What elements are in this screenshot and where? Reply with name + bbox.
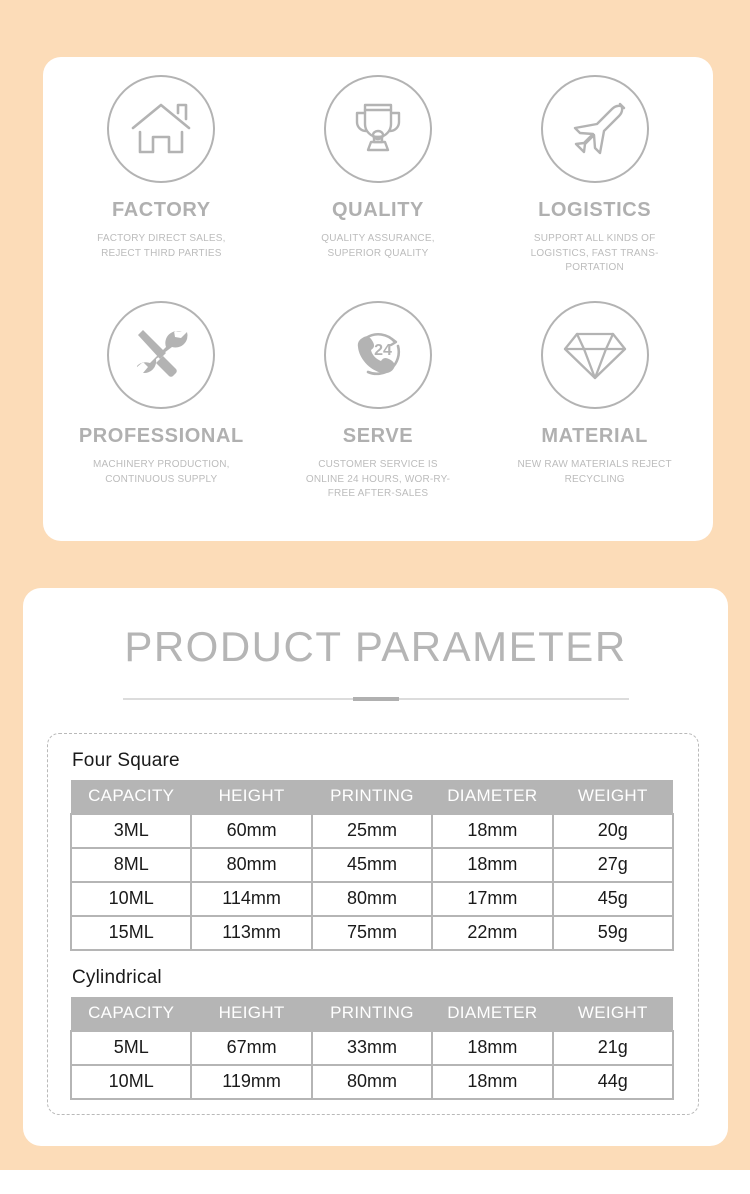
divider-center-mark xyxy=(353,697,399,701)
feature-title: FACTORY xyxy=(112,199,211,221)
cell-diameter: 18mm xyxy=(432,1031,552,1065)
cell-height: 60mm xyxy=(191,814,311,848)
cell-height: 114mm xyxy=(191,882,311,916)
feature-desc: FACTORY DIRECT SALES, REJECT THIRD PARTI… xyxy=(81,232,241,261)
features-card: FACTORY FACTORY DIRECT SALES, REJECT THI… xyxy=(43,57,713,541)
table-caption-four-square: Four Square xyxy=(70,746,676,780)
cell-diameter: 18mm xyxy=(432,1065,552,1099)
column-header: WEIGHT xyxy=(553,780,673,814)
cell-height: 80mm xyxy=(191,848,311,882)
cell-diameter: 17mm xyxy=(432,882,552,916)
cell-height: 67mm xyxy=(191,1031,311,1065)
cell-capacity: 15ML xyxy=(71,916,191,950)
table-row: 10ML 119mm 80mm 18mm 44g xyxy=(71,1065,673,1099)
feature-title: SERVE xyxy=(343,425,413,447)
airplane-icon xyxy=(541,75,649,183)
svg-text:24: 24 xyxy=(374,342,392,359)
feature-title: QUALITY xyxy=(332,199,424,221)
column-header: CAPACITY xyxy=(71,997,191,1031)
cell-diameter: 18mm xyxy=(432,814,552,848)
title-divider xyxy=(123,695,629,703)
feature-desc: MACHINERY PRODUCTION, CONTINUOUS SUPPLY xyxy=(81,458,241,487)
house-icon xyxy=(107,75,215,183)
table-row: 8ML 80mm 45mm 18mm 27g xyxy=(71,848,673,882)
spec-tables-container: Four Square CAPACITY HEIGHT PRINTING DIA… xyxy=(47,733,699,1115)
cell-capacity: 10ML xyxy=(71,1065,191,1099)
feature-quality[interactable]: QUALITY QUALITY ASSURANCE, SUPERIOR QUAL… xyxy=(270,75,487,301)
cell-capacity: 10ML xyxy=(71,882,191,916)
trophy-icon xyxy=(324,75,432,183)
cell-printing: 33mm xyxy=(312,1031,432,1065)
cell-printing: 75mm xyxy=(312,916,432,950)
cell-diameter: 22mm xyxy=(432,916,552,950)
column-header: WEIGHT xyxy=(553,997,673,1031)
feature-professional[interactable]: PROFESSIONAL MACHINERY PRODUCTION, CONTI… xyxy=(53,301,270,527)
cell-printing: 80mm xyxy=(312,1065,432,1099)
table-row: 10ML 114mm 80mm 17mm 45g xyxy=(71,882,673,916)
feature-title: PROFESSIONAL xyxy=(79,425,244,447)
product-parameter-card: PRODUCT PARAMETER Four Square CAPACITY H… xyxy=(23,588,728,1146)
page-background: FACTORY FACTORY DIRECT SALES, REJECT THI… xyxy=(0,0,750,1170)
cell-printing: 80mm xyxy=(312,882,432,916)
cell-height: 113mm xyxy=(191,916,311,950)
table-caption-cylindrical: Cylindrical xyxy=(70,963,676,997)
spec-table-cylindrical: CAPACITY HEIGHT PRINTING DIAMETER WEIGHT… xyxy=(70,997,674,1100)
table-row: 15ML 113mm 75mm 22mm 59g xyxy=(71,916,673,950)
cell-weight: 27g xyxy=(553,848,673,882)
spec-table-four-square: CAPACITY HEIGHT PRINTING DIAMETER WEIGHT… xyxy=(70,780,674,951)
cell-printing: 45mm xyxy=(312,848,432,882)
table-header-row: CAPACITY HEIGHT PRINTING DIAMETER WEIGHT xyxy=(71,780,673,814)
table-spacer xyxy=(70,951,676,963)
feature-material[interactable]: MATERIAL NEW RAW MATERIALS REJECT RECYCL… xyxy=(486,301,703,527)
table-header-row: CAPACITY HEIGHT PRINTING DIAMETER WEIGHT xyxy=(71,997,673,1031)
column-header: CAPACITY xyxy=(71,780,191,814)
page-title: PRODUCT PARAMETER xyxy=(23,588,728,671)
column-header: PRINTING xyxy=(312,780,432,814)
table-row: 5ML 67mm 33mm 18mm 21g xyxy=(71,1031,673,1065)
feature-desc: CUSTOMER SERVICE IS ONLINE 24 HOURS, WOR… xyxy=(298,458,458,502)
tools-icon xyxy=(107,301,215,409)
cell-weight: 59g xyxy=(553,916,673,950)
feature-title: MATERIAL xyxy=(541,425,648,447)
column-header: PRINTING xyxy=(312,997,432,1031)
cell-printing: 25mm xyxy=(312,814,432,848)
cell-weight: 21g xyxy=(553,1031,673,1065)
features-grid: FACTORY FACTORY DIRECT SALES, REJECT THI… xyxy=(43,57,713,527)
feature-logistics[interactable]: LOGISTICS SUPPORT ALL KINDS OF LOGISTICS… xyxy=(486,75,703,301)
cell-weight: 45g xyxy=(553,882,673,916)
column-header: DIAMETER xyxy=(432,780,552,814)
feature-factory[interactable]: FACTORY FACTORY DIRECT SALES, REJECT THI… xyxy=(53,75,270,301)
feature-desc: QUALITY ASSURANCE, SUPERIOR QUALITY xyxy=(298,232,458,261)
feature-desc: SUPPORT ALL KINDS OF LOGISTICS, FAST TRA… xyxy=(515,232,675,276)
phone-24h-icon: 24 xyxy=(324,301,432,409)
cell-capacity: 8ML xyxy=(71,848,191,882)
cell-capacity: 3ML xyxy=(71,814,191,848)
cell-diameter: 18mm xyxy=(432,848,552,882)
cell-capacity: 5ML xyxy=(71,1031,191,1065)
bottom-strip xyxy=(0,1170,750,1194)
table-row: 3ML 60mm 25mm 18mm 20g xyxy=(71,814,673,848)
diamond-icon xyxy=(541,301,649,409)
feature-desc: NEW RAW MATERIALS REJECT RECYCLING xyxy=(515,458,675,487)
cell-height: 119mm xyxy=(191,1065,311,1099)
feature-serve[interactable]: 24 SERVE CUSTOMER SERVICE IS ONLINE 24 H… xyxy=(270,301,487,527)
cell-weight: 44g xyxy=(553,1065,673,1099)
column-header: HEIGHT xyxy=(191,997,311,1031)
cell-weight: 20g xyxy=(553,814,673,848)
column-header: HEIGHT xyxy=(191,780,311,814)
column-header: DIAMETER xyxy=(432,997,552,1031)
feature-title: LOGISTICS xyxy=(538,199,651,221)
